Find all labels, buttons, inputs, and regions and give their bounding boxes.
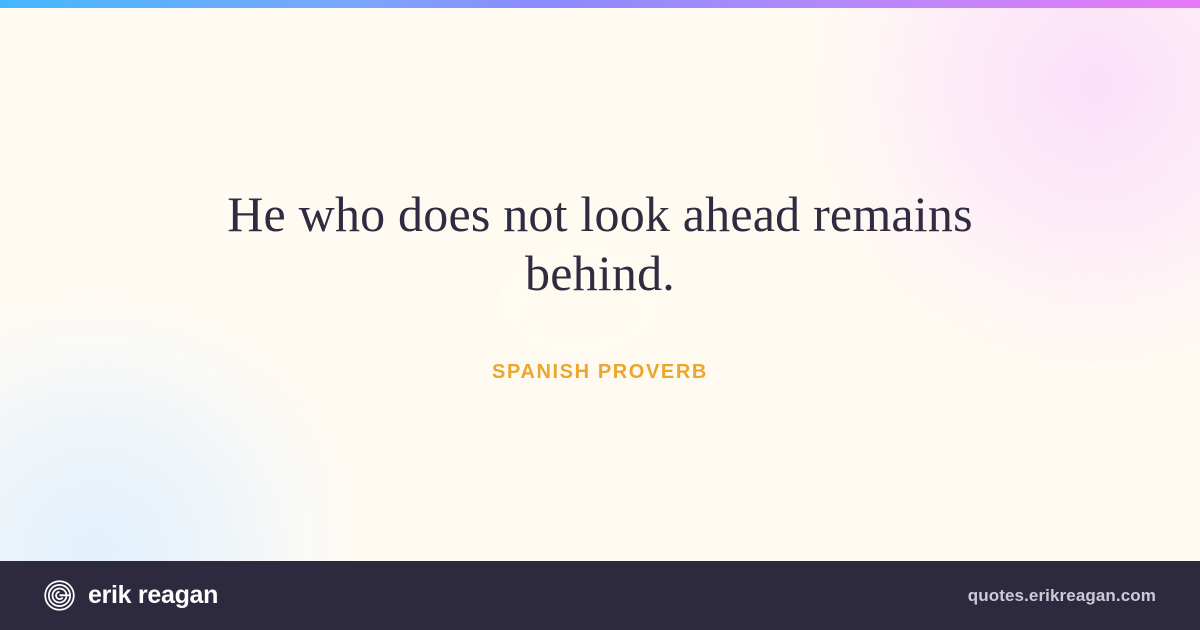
quote-text: He who does not look ahead remains behin… <box>190 185 1010 303</box>
quote-content-area: He who does not look ahead remains behin… <box>0 0 1200 561</box>
top-accent-gradient-bar <box>0 0 1200 8</box>
quote-card: He who does not look ahead remains behin… <box>0 0 1200 630</box>
concentric-e-logo-icon <box>44 580 75 611</box>
footer-site-url[interactable]: quotes.erikreagan.com <box>968 587 1156 604</box>
quote-block: He who does not look ahead remains behin… <box>190 185 1010 384</box>
brand-lockup[interactable]: erik reagan <box>44 580 218 611</box>
footer-bar: erik reagan quotes.erikreagan.com <box>0 561 1200 630</box>
brand-name-label: erik reagan <box>88 583 218 608</box>
quote-attribution: Spanish Proverb <box>190 361 1010 384</box>
